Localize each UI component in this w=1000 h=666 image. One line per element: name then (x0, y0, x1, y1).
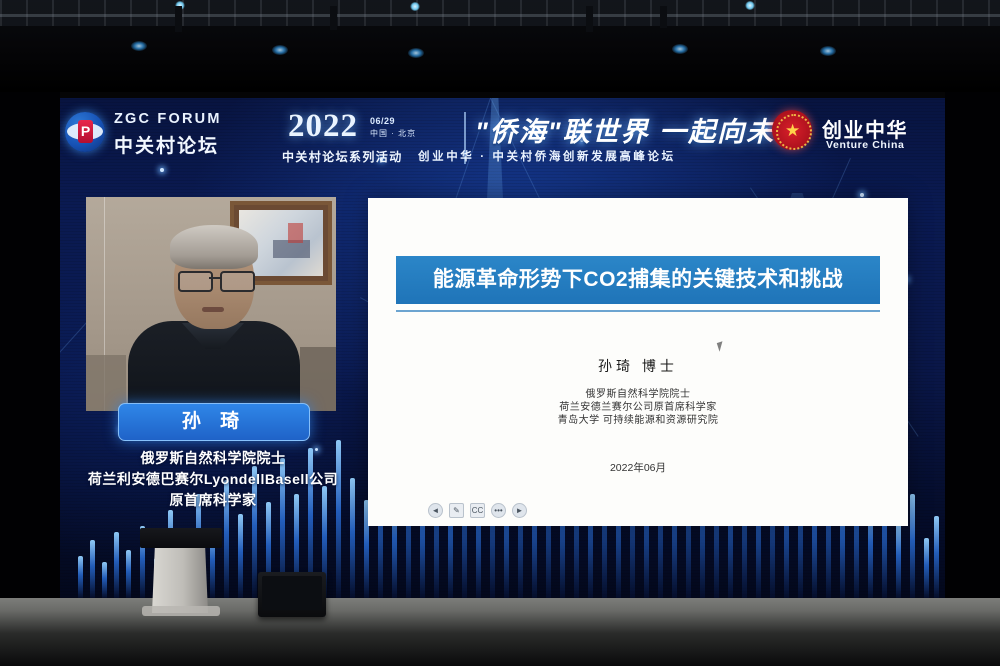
light-hanger (330, 6, 337, 30)
podium-top (140, 528, 222, 548)
slide-affiliation-line: 青岛大学 可持续能源和资源研究院 (368, 414, 908, 427)
eyeglasses-right-lens (220, 271, 255, 292)
event-year: 2022 (288, 108, 358, 145)
conference-stage-photo: P ZGC FORUM 中关村论坛 2022 06/29 中国 · 北京 中关村… (0, 0, 1000, 666)
presentation-slide: 能源革命形势下CO2捕集的关键技术和挑战 孙琦 博士 俄罗斯自然科学院院士 荷兰… (368, 198, 908, 526)
speaker-bio: 俄罗斯自然科学院院士 荷兰利安德巴赛尔LyondellBasell公司 原首席科… (68, 448, 358, 511)
ceiling-spotlight-icon (408, 48, 424, 58)
slide-affiliation-line: 荷兰安德兰赛尔公司原首席科学家 (368, 401, 908, 414)
venture-china-emblem-icon: ★ (772, 110, 812, 150)
light-hanger (660, 6, 667, 28)
captions-icon[interactable]: CC (470, 503, 485, 518)
chair-left (86, 355, 126, 411)
forum-name-en: ZGC FORUM (114, 111, 222, 127)
light-hanger (586, 6, 593, 32)
pen-icon[interactable]: ✎ (449, 503, 464, 518)
speaker-video-feed (86, 197, 336, 411)
lighting-truss (0, 0, 1000, 26)
event-date: 06/29 (370, 116, 416, 126)
event-date-city: 06/29 中国 · 北京 (370, 116, 416, 139)
forum-name-cn: 中关村论坛 (114, 131, 219, 158)
podium-base (142, 606, 220, 616)
event-sub-slogan: 创业中华 · 中关村侨海创新发展高峰论坛 (418, 148, 676, 164)
previous-slide-icon[interactable]: ◄ (428, 503, 443, 518)
star-icon: ★ (785, 122, 800, 139)
slide-date: 2022年06月 (368, 460, 908, 475)
ceiling-spotlight-icon (131, 41, 147, 51)
eq-bar (896, 520, 901, 598)
eq-bar (90, 540, 95, 598)
eyeglasses-left-lens (178, 271, 213, 292)
eq-bar (934, 516, 939, 598)
event-slogan: "侨海"联世界 一起向未来 (475, 110, 804, 149)
picture-detail (288, 223, 303, 243)
speaker-nameplate: 孙 琦 (118, 403, 310, 441)
speaker-name: 孙 琦 (119, 404, 309, 440)
speaker-bio-line: 荷兰利安德巴赛尔LyondellBasell公司 (68, 469, 358, 490)
eq-bar (126, 550, 131, 598)
eq-bar (924, 538, 929, 598)
truss-lamp-icon (745, 1, 755, 10)
eq-bar (114, 532, 119, 598)
event-banner-header: P ZGC FORUM 中关村论坛 2022 06/29 中国 · 北京 中关村… (60, 98, 945, 182)
eq-bar (238, 514, 243, 598)
ceiling (0, 0, 1000, 92)
light-hanger (175, 6, 182, 32)
chair-right (300, 347, 336, 411)
event-city: 中国 · 北京 (370, 128, 416, 139)
slide-title-banner: 能源革命形势下CO2捕集的关键技术和挑战 (396, 256, 880, 304)
stage-wall-right (945, 92, 1000, 612)
speaker-mouth (202, 307, 224, 312)
eq-bar (102, 562, 107, 598)
slideshow-control-bar[interactable]: ◄ ✎ CC ••• ► (428, 503, 527, 518)
slide-title: 能源革命形势下CO2捕集的关键技术和挑战 (396, 256, 880, 304)
eq-bar (910, 494, 915, 598)
sponsor-name-en: Venture China (826, 139, 904, 151)
led-backdrop-screen: P ZGC FORUM 中关村论坛 2022 06/29 中国 · 北京 中关村… (60, 98, 945, 598)
more-options-icon[interactable]: ••• (491, 503, 506, 518)
eq-bar (78, 556, 83, 598)
ceiling-spotlight-icon (820, 46, 836, 56)
slide-presenter-name: 孙琦 博士 (368, 356, 908, 376)
speaker-bio-line: 原首席科学家 (68, 490, 358, 511)
eyeglasses-bridge (209, 277, 220, 279)
slide-affiliation-line: 俄罗斯自然科学院院士 (368, 388, 908, 401)
ceiling-spotlight-icon (272, 45, 288, 55)
truss-lamp-icon (410, 2, 420, 11)
speaker-hair (170, 225, 258, 269)
next-slide-icon[interactable]: ► (512, 503, 527, 518)
network-node (860, 193, 864, 197)
zgc-forum-logo-icon: P (65, 112, 105, 152)
slide-title-underline (396, 310, 880, 312)
truss-rail (0, 14, 1000, 17)
logo-mark: P (78, 120, 93, 143)
event-series: 中关村论坛系列活动 (282, 148, 403, 165)
slide-affiliations: 俄罗斯自然科学院院士 荷兰安德兰赛尔公司原首席科学家 青岛大学 可持续能源和资源… (368, 388, 908, 427)
stage-wall-left (0, 92, 60, 612)
mouse-cursor-icon (717, 341, 725, 351)
speaker-bio-line: 俄罗斯自然科学院院士 (68, 448, 358, 469)
ceiling-spotlight-icon (672, 44, 688, 54)
stage-monitor-screen (262, 576, 322, 610)
